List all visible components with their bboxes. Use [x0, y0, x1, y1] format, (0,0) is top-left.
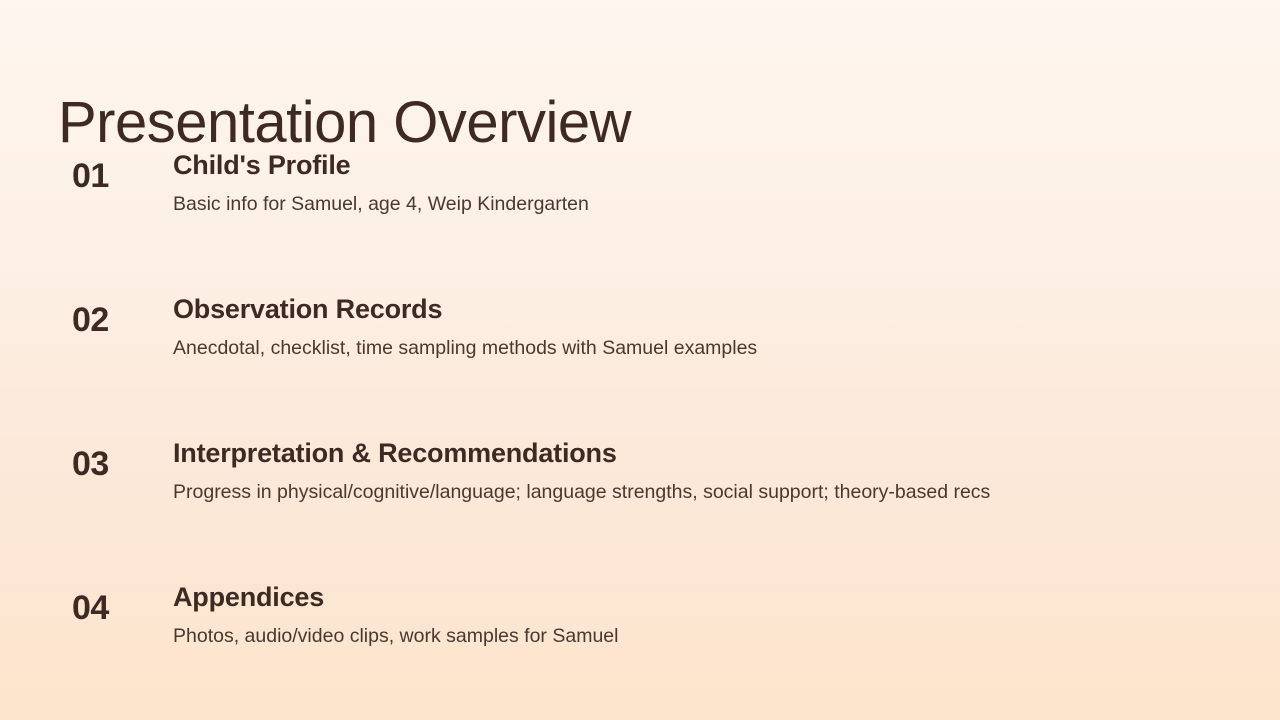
agenda-item-body: Appendices Photos, audio/video clips, wo…	[173, 582, 1240, 649]
agenda-item-heading: Appendices	[173, 582, 1240, 614]
agenda-item-number: 01	[72, 159, 158, 193]
agenda-item[interactable]: 02 Observation Records Anecdotal, checkl…	[0, 294, 1280, 438]
page-title: Presentation Overview	[58, 93, 631, 154]
agenda-item-body: Interpretation & Recommendations Progres…	[173, 438, 1240, 505]
agenda-list: 01 Child's Profile Basic info for Samuel…	[0, 150, 1280, 720]
agenda-item-heading: Child's Profile	[173, 150, 1240, 182]
agenda-item-description: Progress in physical/cognitive/language;…	[173, 480, 1240, 505]
agenda-item-heading: Interpretation & Recommendations	[173, 438, 1240, 470]
agenda-item[interactable]: 01 Child's Profile Basic info for Samuel…	[0, 150, 1280, 294]
agenda-item-number: 03	[72, 447, 158, 481]
agenda-item-heading: Observation Records	[173, 294, 1240, 326]
agenda-item-number: 02	[72, 303, 158, 337]
agenda-item-description: Basic info for Samuel, age 4, Weip Kinde…	[173, 192, 1240, 217]
agenda-item[interactable]: 04 Appendices Photos, audio/video clips,…	[0, 582, 1280, 720]
agenda-item-description: Photos, audio/video clips, work samples …	[173, 624, 1240, 649]
agenda-item-number: 04	[72, 591, 158, 625]
agenda-item-body: Child's Profile Basic info for Samuel, a…	[173, 150, 1240, 217]
agenda-item-description: Anecdotal, checklist, time sampling meth…	[173, 336, 1240, 361]
presentation-slide: Presentation Overview 01 Child's Profile…	[0, 0, 1280, 720]
agenda-item-body: Observation Records Anecdotal, checklist…	[173, 294, 1240, 361]
agenda-item[interactable]: 03 Interpretation & Recommendations Prog…	[0, 438, 1280, 582]
